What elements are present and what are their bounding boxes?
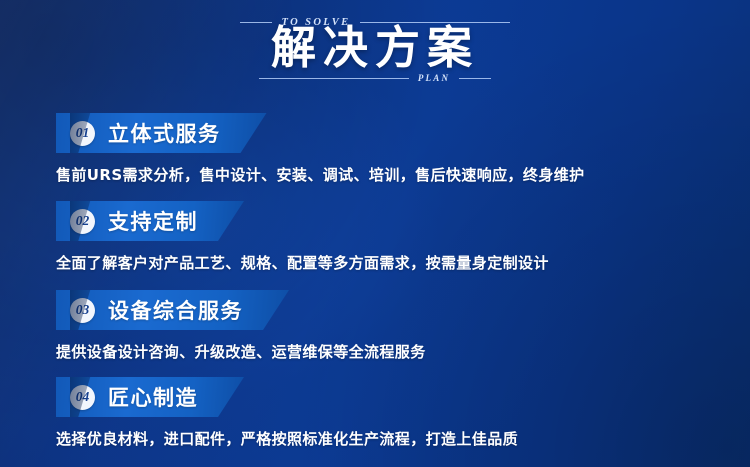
section-banner: 04 匠心制造: [56, 377, 244, 417]
section-number-badge: 02: [70, 209, 95, 234]
subline-rule-right: [459, 78, 491, 79]
subline-rule-left: [259, 78, 409, 79]
section-title: 支持定制: [108, 206, 198, 236]
section-title: 匠心制造: [108, 382, 198, 412]
solution-poster: TO SOLVE 解决方案 PLAN 01 立体式服务 售前URS需求分析，售中…: [0, 0, 750, 467]
section-banner: 02 支持定制: [56, 201, 244, 241]
section-block: 04 匠心制造 选择优良材料，进口配件，严格按照标准化生产流程，打造上佳品质: [0, 377, 750, 449]
section-title: 立体式服务: [108, 118, 221, 148]
section-banner-wrap: 01 立体式服务: [56, 113, 750, 153]
subline-row: PLAN: [0, 70, 750, 86]
section-number-badge: 03: [70, 298, 95, 323]
section-block: 01 立体式服务 售前URS需求分析，售中设计、安装、调试、培训，售后快速响应，…: [0, 113, 750, 185]
subline-text: PLAN: [418, 73, 450, 83]
section-description: 售前URS需求分析，售中设计、安装、调试、培训，售后快速响应，终身维护: [56, 165, 750, 185]
section-description: 选择优良材料，进口配件，严格按照标准化生产流程，打造上佳品质: [56, 429, 750, 449]
section-number-badge: 01: [70, 121, 95, 146]
section-title: 设备综合服务: [108, 295, 243, 325]
section-banner-wrap: 03 设备综合服务: [56, 290, 750, 330]
section-description: 全面了解客户对产品工艺、规格、配置等多方面需求，按需量身定制设计: [56, 253, 750, 273]
section-banner-wrap: 04 匠心制造: [56, 377, 750, 417]
eyebrow-rule-left: [240, 22, 272, 23]
poster-header: TO SOLVE 解决方案 PLAN: [0, 0, 750, 98]
section-number-badge: 04: [70, 385, 95, 410]
page-title: 解决方案: [0, 24, 750, 72]
section-description: 提供设备设计咨询、升级改造、运营维保等全流程服务: [56, 342, 750, 362]
section-block: 02 支持定制 全面了解客户对产品工艺、规格、配置等多方面需求，按需量身定制设计: [0, 201, 750, 273]
section-block: 03 设备综合服务 提供设备设计咨询、升级改造、运营维保等全流程服务: [0, 290, 750, 362]
section-banner: 03 设备综合服务: [56, 290, 289, 330]
section-banner-wrap: 02 支持定制: [56, 201, 750, 241]
section-banner: 01 立体式服务: [56, 113, 267, 153]
